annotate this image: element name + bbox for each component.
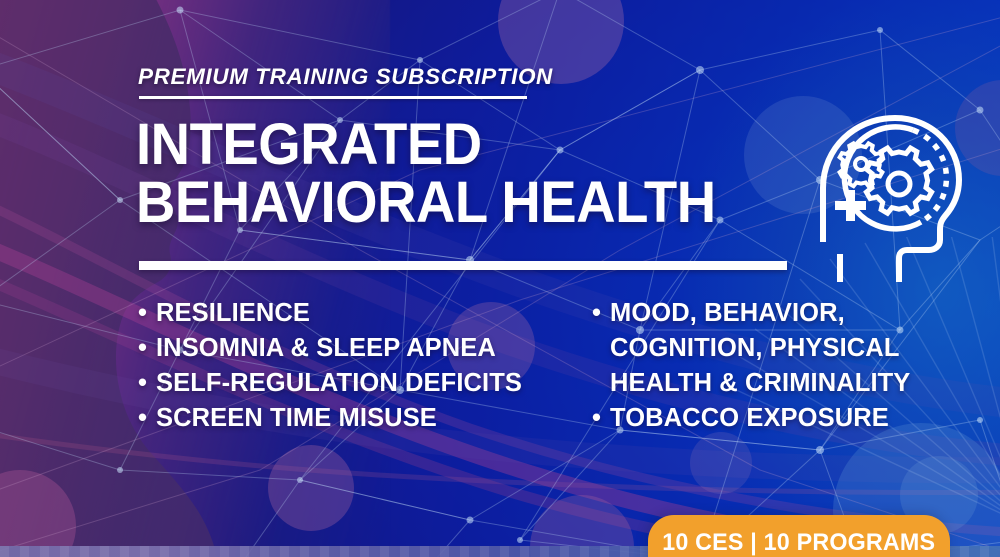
- list-item-label: COGNITION, PHYSICAL: [610, 331, 910, 366]
- list-item-label: INSOMNIA & SLEEP APNEA: [156, 331, 496, 366]
- kicker-divider: [139, 96, 527, 99]
- bullet-dot-icon: •: [138, 296, 154, 331]
- title-line-2: BEHAVIORAL HEALTH: [136, 174, 756, 232]
- kicker-text: PREMIUM TRAINING SUBSCRIPTION: [138, 64, 553, 90]
- banner-title: INTEGRATED BEHAVIORAL HEALTH: [136, 116, 756, 232]
- badge-label: 10 CES | 10 PROGRAMS: [662, 529, 935, 557]
- title-line-1: INTEGRATED: [136, 116, 756, 174]
- bullet-dot-icon: •: [592, 401, 608, 436]
- title-divider: [139, 261, 787, 270]
- bullet-dot-icon: •: [138, 366, 154, 401]
- list-item-label: HEALTH & CRIMINALITY: [610, 366, 910, 401]
- list-item-label: SCREEN TIME MISUSE: [156, 401, 437, 436]
- list-item-label: RESILIENCE: [156, 296, 310, 331]
- list-item-label: MOOD, BEHAVIOR,: [610, 296, 910, 331]
- list-item-label: TOBACCO EXPOSURE: [610, 401, 889, 436]
- promotional-banner: PREMIUM TRAINING SUBSCRIPTION INTEGRATED…: [0, 0, 1000, 557]
- ces-programs-badge: 10 CES | 10 PROGRAMS: [648, 515, 950, 557]
- list-item: • MOOD, BEHAVIOR, COGNITION, PHYSICAL HE…: [592, 296, 992, 401]
- list-item: • TOBACCO EXPOSURE: [592, 401, 992, 436]
- list-item-label: SELF-REGULATION DEFICITS: [156, 366, 522, 401]
- bullet-dot-icon: •: [138, 331, 154, 366]
- list-item: • SELF-REGULATION DEFICITS: [138, 366, 588, 401]
- bullet-dot-icon: •: [592, 296, 608, 331]
- bullet-dot-icon: •: [138, 401, 154, 436]
- head-with-gears-icon: [795, 104, 967, 284]
- list-item: • RESILIENCE: [138, 296, 588, 331]
- topic-list-left: • RESILIENCE • INSOMNIA & SLEEP APNEA • …: [138, 296, 588, 436]
- list-item: • SCREEN TIME MISUSE: [138, 401, 588, 436]
- banner-content: PREMIUM TRAINING SUBSCRIPTION INTEGRATED…: [0, 0, 1000, 557]
- list-item: • INSOMNIA & SLEEP APNEA: [138, 331, 588, 366]
- topic-list-right: • MOOD, BEHAVIOR, COGNITION, PHYSICAL HE…: [592, 296, 992, 436]
